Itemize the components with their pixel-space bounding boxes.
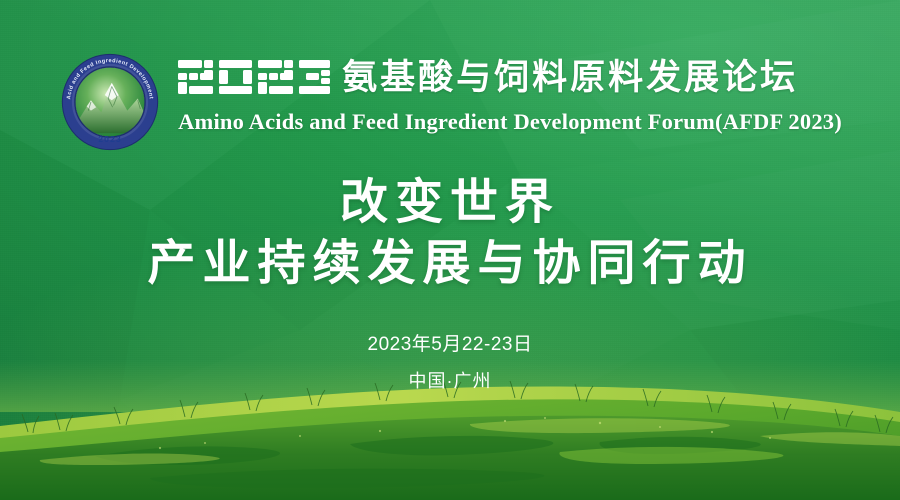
event-location: 中国·广州 [0,372,900,390]
title-chinese: 氨基酸与饲料原料发展论坛 [342,60,798,95]
slogan-block: 改变世界 产业持续发展与协同行动 [0,172,900,295]
event-poster: Amino Acid and Feed Ingredient Developme… [0,0,900,500]
title-block: 氨基酸与饲料原料发展论坛 Amino Acids and Feed Ingred… [178,46,842,134]
title-english: Amino Acids and Feed Ingredient Developm… [178,111,842,134]
poster-header: Amino Acid and Feed Ingredient Developme… [0,46,900,154]
slogan-line-2: 产业持续发展与协同行动 [0,233,900,294]
afdf-logo: Amino Acid and Feed Ingredient Developme… [58,50,162,154]
emblem-year: 2023 [98,134,121,144]
title-main-line: 氨基酸与饲料原料发展论坛 [178,54,798,100]
event-date: 2023年5月22-23日 [0,335,900,354]
year-2023-mark [178,60,330,94]
event-meta: 2023年5月22-23日 中国·广州 [0,335,900,390]
slogan-line-1: 改变世界 [0,172,900,233]
